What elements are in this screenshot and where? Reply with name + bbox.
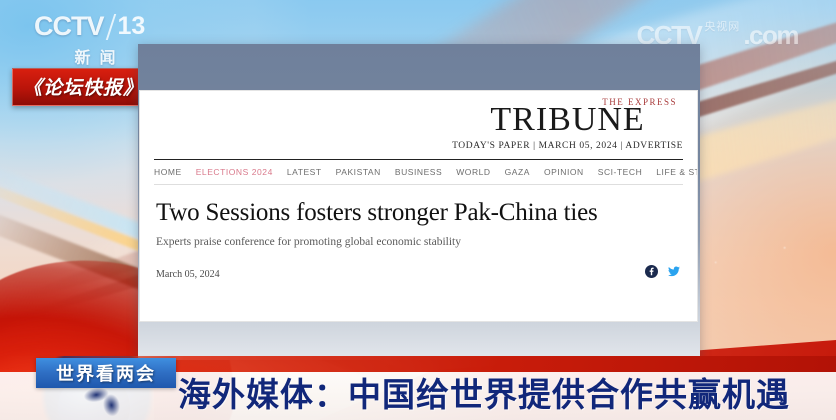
nav-item-latest[interactable]: LATEST [287,167,322,177]
site-navigation: HOME ELECTIONS 2024 LATEST PAKISTAN BUSI… [140,160,697,184]
lower-third-banner: 世界看两会 海外媒体：中国给世界提供合作共赢机遇 [0,356,836,420]
nav-item-gaza[interactable]: GAZA [505,167,530,177]
nav-item-life-and-style[interactable]: LIFE & STYLE [656,167,697,177]
masthead-logo-block[interactable]: THE EXPRESS TRIBUNE TODAY'S PAPER | MARC… [452,97,683,151]
cctv-logo-divider [105,14,115,40]
nav-item-home[interactable]: HOME [154,167,182,177]
nav-item-world[interactable]: WORLD [456,167,490,177]
article-screenshot-frame: THE EXPRESS TRIBUNE TODAY'S PAPER | MARC… [138,44,700,360]
news-website-page: THE EXPRESS TRIBUNE TODAY'S PAPER | MARC… [139,90,698,322]
facebook-icon[interactable] [645,265,658,278]
article-body: Two Sessions fosters stronger Pak-China … [140,185,697,280]
article-share-bar [645,265,681,278]
program-title-badge: 《论坛快报》 [12,68,154,106]
masthead-utility-bar[interactable]: TODAY'S PAPER | MARCH 05, 2024 | ADVERTI… [452,141,683,151]
article-headline[interactable]: Two Sessions fosters stronger Pak-China … [156,199,681,227]
masthead-title: TRIBUNE [452,103,683,137]
nav-item-pakistan[interactable]: PAKISTAN [336,167,381,177]
nav-item-elections-2024[interactable]: ELECTIONS 2024 [196,167,273,177]
globe-landmass [77,378,127,420]
nav-item-sci-tech[interactable]: SCI-TECH [598,167,643,177]
twitter-icon[interactable] [667,265,681,278]
cctv-channel-number: 13 [118,12,146,41]
broadcast-frame: CCTV 13 新闻 CCTV 央视网 .com 《论坛快报》 THE EXPR… [0,0,836,420]
article-standfirst: Experts praise conference for promoting … [156,236,681,248]
site-masthead: THE EXPRESS TRIBUNE TODAY'S PAPER | MARC… [140,91,697,159]
nav-item-opinion[interactable]: OPINION [544,167,584,177]
watermark-suffix: .com [743,22,798,48]
watermark-chinese: 央视网 [704,18,740,34]
article-date: March 05, 2024 [156,269,681,280]
lower-third-headline: 海外媒体：中国给世界提供合作共赢机遇 [178,368,790,416]
nav-item-business[interactable]: BUSINESS [395,167,442,177]
cctv-wordmark: CCTV [34,13,104,40]
